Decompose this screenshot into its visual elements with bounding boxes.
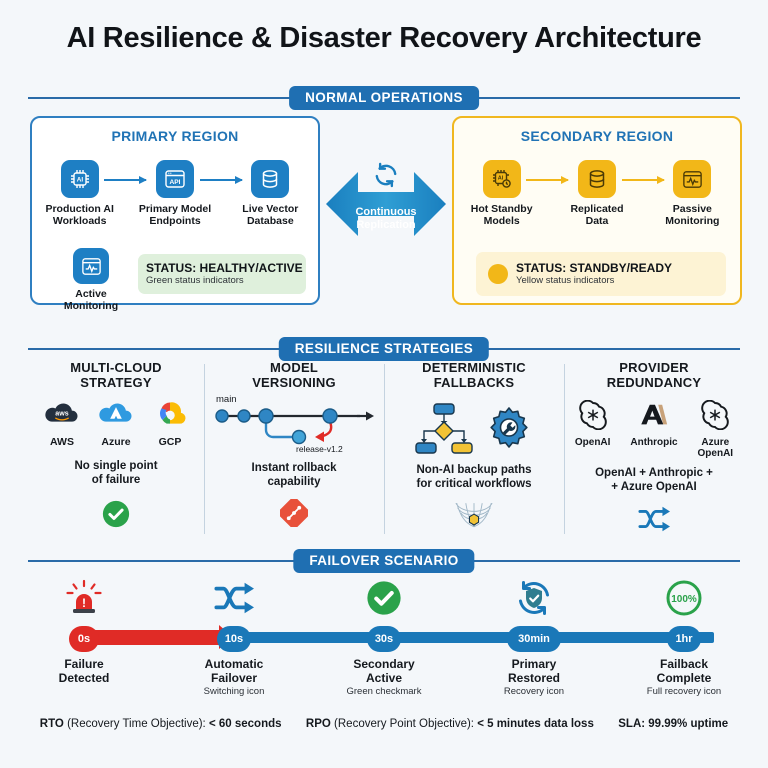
rpo-expand: (Recovery Point Objective):: [331, 718, 477, 730]
gcp-cloud-icon: [150, 400, 190, 430]
strategy-heading: MULTI-CLOUDSTRATEGY: [28, 360, 204, 390]
provider-label: AzureOpenAI: [691, 437, 740, 459]
column-divider: [564, 364, 565, 534]
openai-logo-icon: [700, 400, 730, 430]
green-check-circle-icon: [324, 576, 444, 620]
provider-azure-openai[interactable]: AzureOpenAI: [691, 400, 740, 459]
ai-chip-icon: AI: [61, 160, 99, 198]
flowchart-icon: [415, 403, 473, 455]
git-fork-icon: [208, 499, 380, 532]
primary-region-title: PRIMARY REGION: [32, 128, 318, 144]
rpo-label: RPO: [306, 718, 331, 730]
section-header-normal-operations: NORMAL OPERATIONS: [28, 86, 740, 110]
timeline-time-pill: 30s: [367, 626, 401, 652]
shuffle-arrows-icon: [174, 576, 294, 620]
gear-wrench-icon: [485, 405, 533, 453]
cloud-provider-list: aws AWS Azure: [28, 400, 204, 448]
strategy-heading: DETERMINISTICFALLBACKS: [388, 360, 560, 390]
status-sub: Green status indicators: [146, 275, 303, 287]
timeline-step-failure-detected[interactable]: ! 0s FailureDetected: [24, 576, 144, 686]
timeline-time-pill: 30min: [507, 626, 561, 652]
monitoring-window-icon: [673, 160, 711, 198]
cloud-gcp[interactable]: GCP: [150, 400, 190, 448]
timeline-title: FailureDetected: [24, 657, 144, 685]
connector-arrow-2: [200, 179, 242, 181]
secondary-region-panel: SECONDARY REGION AI Hot StandbyModels: [452, 116, 742, 305]
strategy-description: Instant rollbackcapability: [208, 462, 380, 489]
continuous-replication-arrow: ContinuousReplication: [326, 152, 446, 258]
footer-metrics: RTO (Recovery Time Objective): < 60 seco…: [0, 718, 768, 730]
rto-value: < 60 seconds: [209, 718, 282, 730]
branch-label-main: main: [216, 394, 237, 405]
column-divider: [384, 364, 385, 534]
timeline-title: AutomaticFailover: [174, 657, 294, 685]
rto-label: RTO: [40, 718, 64, 730]
anthropic-logo-icon: [639, 400, 669, 430]
timeline-title: SecondaryActive: [324, 657, 444, 685]
timeline-step-failback-complete[interactable]: 100% 1hr FailbackComplete Full recovery …: [624, 576, 744, 698]
node-production-ai-workloads[interactable]: AI Production AIWorkloads: [32, 160, 127, 227]
node-passive-monitoring[interactable]: PassiveMonitoring: [645, 160, 740, 227]
timeline-sub: Full recovery icon: [624, 686, 744, 698]
node-label: Hot StandbyModels: [454, 203, 549, 227]
timeline-title: PrimaryRestored: [474, 657, 594, 685]
strategy-multi-cloud[interactable]: MULTI-CLOUDSTRATEGY aws AWS Azure: [28, 360, 204, 534]
strategy-heading: PROVIDERREDUNDANCY: [568, 360, 740, 390]
secondary-node-row: AI Hot StandbyModels ReplicatedD: [454, 160, 740, 227]
azure-cloud-icon: [96, 400, 136, 430]
svg-text:AI: AI: [497, 176, 503, 182]
monitoring-window-icon: [73, 248, 109, 284]
sync-refresh-icon: [373, 162, 399, 193]
shield-recovery-icon: [474, 576, 594, 620]
aws-cloud-icon: aws: [42, 400, 82, 430]
sla-label: SLA:: [618, 718, 648, 730]
section-chip-normal-operations: NORMAL OPERATIONS: [289, 86, 479, 110]
strategy-provider-redundancy[interactable]: PROVIDERREDUNDANCY OpenAI Anthropic: [568, 360, 740, 537]
sla-value: 99.99% uptime: [648, 718, 728, 730]
section-chip-failover-scenario: FAILOVER SCENARIO: [293, 549, 474, 573]
node-active-monitoring[interactable]: ActiveMonitoring: [50, 248, 132, 312]
timeline-time-pill: 1hr: [667, 626, 701, 652]
alarm-siren-icon: !: [24, 576, 144, 620]
timeline-time-pill: 10s: [217, 626, 251, 652]
node-label: ActiveMonitoring: [50, 288, 132, 312]
strategy-description: Non-AI backup pathsfor critical workflow…: [388, 464, 560, 491]
status-headline: STATUS: HEALTHY/ACTIVE: [146, 261, 303, 275]
hundred-percent-ring-icon: 100%: [624, 576, 744, 620]
secondary-region-title: SECONDARY REGION: [454, 128, 740, 144]
svg-text:100%: 100%: [671, 594, 697, 605]
ai-chip-clock-icon: AI: [483, 160, 521, 198]
node-label: Live VectorDatabase: [223, 203, 318, 227]
timeline-step-automatic-failover[interactable]: 10s AutomaticFailover Switching icon: [174, 576, 294, 698]
node-primary-model-endpoints[interactable]: API Primary ModelEndpoints: [127, 160, 222, 227]
section-header-resilience-strategies: RESILIENCE STRATEGIES: [28, 337, 740, 361]
replication-label: ContinuousReplication: [326, 206, 446, 232]
status-headline: STATUS: STANDBY/READY: [516, 261, 672, 275]
node-label: Production AIWorkloads: [32, 203, 127, 227]
green-check-circle-icon: [28, 499, 204, 534]
strategy-description: No single pointof failure: [28, 460, 204, 487]
svg-text:aws: aws: [55, 410, 68, 418]
svg-text:API: API: [169, 179, 180, 186]
strategy-model-versioning[interactable]: MODELVERSIONING main release-v1.2: [208, 360, 380, 532]
rpo-value: < 5 minutes data loss: [477, 718, 594, 730]
primary-region-panel: PRIMARY REGION AI Production AIWorkloads: [30, 116, 320, 305]
node-hot-standby-models[interactable]: AI Hot StandbyModels: [454, 160, 549, 227]
connector-arrow-1: [526, 179, 568, 181]
branch-graph-icon: [208, 406, 380, 462]
strategy-deterministic-fallbacks[interactable]: DETERMINISTICFALLBACKS: [388, 360, 560, 536]
provider-label: Anthropic: [629, 437, 678, 448]
tag-label-release: release-v1.2: [296, 444, 343, 454]
status-sub: Yellow status indicators: [516, 275, 672, 287]
cloud-aws[interactable]: aws AWS: [42, 400, 82, 448]
connector-arrow-1: [104, 179, 146, 181]
node-live-vector-database[interactable]: Live VectorDatabase: [223, 160, 318, 227]
primary-status-badge: STATUS: HEALTHY/ACTIVE Green status indi…: [138, 254, 306, 294]
fallback-icons: [388, 402, 560, 456]
timeline-time-pill: 0s: [69, 626, 99, 652]
openai-logo-icon: [578, 400, 608, 430]
node-replicated-data[interactable]: ReplicatedData: [549, 160, 644, 227]
svg-text:AI: AI: [76, 176, 83, 183]
timeline-step-primary-restored[interactable]: 30min PrimaryRestored Recovery icon: [474, 576, 594, 698]
cloud-label: Azure: [96, 436, 136, 448]
section-chip-resilience-strategies: RESILIENCE STRATEGIES: [279, 337, 489, 361]
resilience-strategies-row: MULTI-CLOUDSTRATEGY aws AWS Azure: [28, 360, 740, 542]
failover-timeline: ! 0s FailureDetected 10s AutomaticFailov…: [28, 576, 740, 706]
strategy-heading: MODELVERSIONING: [208, 360, 380, 390]
connector-arrow-2: [622, 179, 664, 181]
cloud-label: AWS: [42, 436, 82, 448]
node-label: PassiveMonitoring: [645, 203, 740, 227]
timeline-sub: Switching icon: [174, 686, 294, 698]
timeline-title: FailbackComplete: [624, 657, 744, 685]
primary-node-row: AI Production AIWorkloads API Pri: [32, 160, 318, 227]
database-icon: [251, 160, 289, 198]
api-window-icon: API: [156, 160, 194, 198]
yellow-status-dot-icon: [488, 264, 508, 284]
provider-anthropic[interactable]: Anthropic: [629, 400, 678, 448]
page-title: AI Resilience & Disaster Recovery Archit…: [0, 22, 768, 55]
database-icon: [578, 160, 616, 198]
provider-list: OpenAI Anthropic AzureOpenAI: [568, 400, 740, 459]
timeline-sub: Recovery icon: [474, 686, 594, 698]
rto-expand: (Recovery Time Objective):: [64, 718, 209, 730]
timeline-step-secondary-active[interactable]: 30s SecondaryActive Green checkmark: [324, 576, 444, 698]
shuffle-arrows-icon: [568, 506, 740, 537]
column-divider: [204, 364, 205, 534]
svg-text:!: !: [82, 596, 86, 610]
git-branch-diagram: main release-v1.2: [208, 394, 380, 458]
node-label: Primary ModelEndpoints: [127, 203, 222, 227]
cloud-azure[interactable]: Azure: [96, 400, 136, 448]
provider-label: OpenAI: [568, 437, 617, 448]
timeline-sub: Green checkmark: [324, 686, 444, 698]
infographic-page: AI Resilience & Disaster Recovery Archit…: [0, 0, 768, 768]
section-header-failover-scenario: FAILOVER SCENARIO: [28, 549, 740, 573]
cloud-label: GCP: [150, 436, 190, 448]
secondary-status-badge: STATUS: STANDBY/READY Yellow status indi…: [476, 252, 726, 296]
provider-openai[interactable]: OpenAI: [568, 400, 617, 448]
safety-net-icon: [388, 499, 560, 536]
node-label: ReplicatedData: [549, 203, 644, 227]
strategy-description: OpenAI + Anthropic ++ Azure OpenAI: [568, 467, 740, 494]
